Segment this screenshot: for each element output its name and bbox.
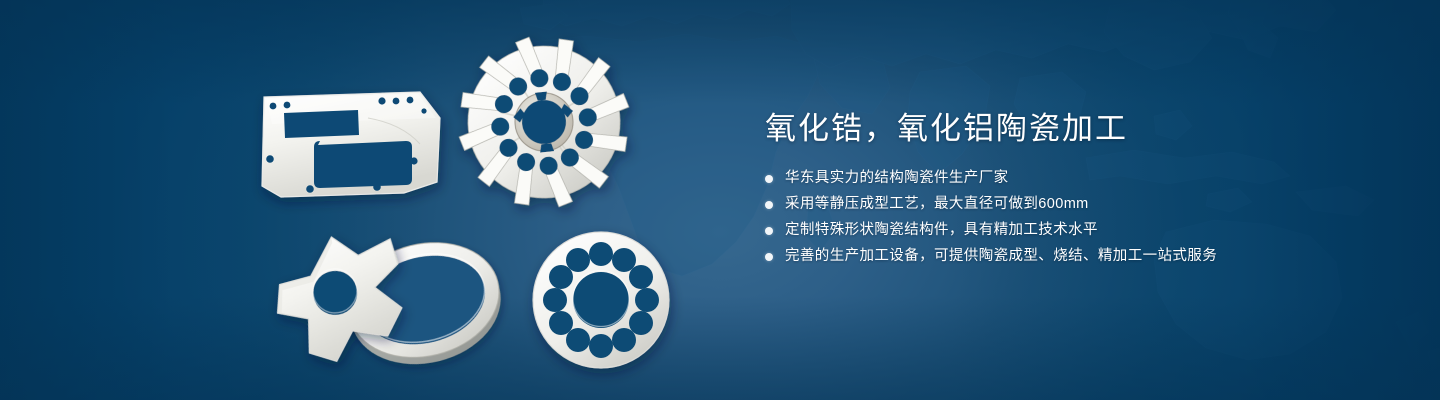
bullet-dot-icon xyxy=(765,175,773,183)
banner-copy: 氧化锆，氧化铝陶瓷加工 华东具实力的结构陶瓷件生产厂家 采用等静压成型工艺，最大… xyxy=(765,110,1385,272)
feature-text: 完善的生产加工设备，可提供陶瓷成型、烧结、精加工一站式服务 xyxy=(785,246,1217,267)
feature-text: 定制特殊形状陶瓷结构件，具有精加工技术水平 xyxy=(785,220,1098,241)
list-item: 采用等静压成型工艺，最大直径可做到600mm xyxy=(765,194,1385,215)
list-item: 定制特殊形状陶瓷结构件，具有精加工技术水平 xyxy=(765,220,1385,241)
feature-list: 华东具实力的结构陶瓷件生产厂家 采用等静压成型工艺，最大直径可做到600mm 定… xyxy=(765,168,1385,267)
list-item: 华东具实力的结构陶瓷件生产厂家 xyxy=(765,168,1385,189)
hero-banner: 氧化锆，氧化铝陶瓷加工 华东具实力的结构陶瓷件生产厂家 采用等静压成型工艺，最大… xyxy=(0,0,1440,400)
ceramic-plate-with-cutouts xyxy=(262,92,440,197)
bullet-dot-icon xyxy=(765,201,773,209)
bullet-dot-icon xyxy=(765,253,773,261)
feature-text: 华东具实力的结构陶瓷件生产厂家 xyxy=(785,168,1009,189)
ceramic-perforated-disc xyxy=(533,232,669,368)
page-title: 氧化锆，氧化铝陶瓷加工 xyxy=(765,110,1385,148)
ceramic-impeller-disc xyxy=(449,27,638,216)
product-image-cluster xyxy=(0,0,760,400)
list-item: 完善的生产加工设备，可提供陶瓷成型、烧结、精加工一站式服务 xyxy=(765,246,1385,267)
bullet-dot-icon xyxy=(765,227,773,235)
feature-text: 采用等静压成型工艺，最大直径可做到600mm xyxy=(785,194,1089,215)
